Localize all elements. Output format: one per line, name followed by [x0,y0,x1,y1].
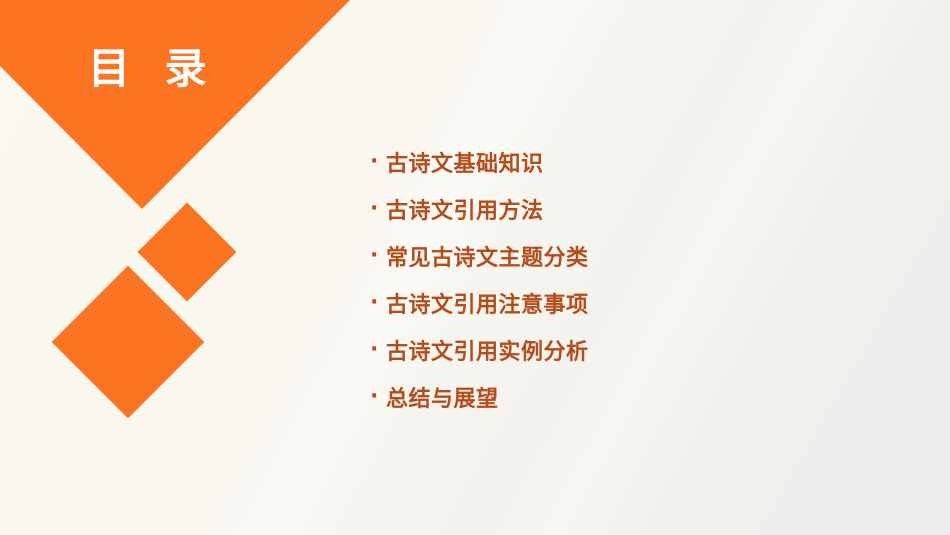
toc-item-2[interactable]: · 古诗文引用方法 [370,185,890,232]
bullet-icon: · [370,198,386,220]
bullet-icon: · [370,292,386,314]
bullet-icon: · [370,386,386,408]
bullet-icon: · [370,151,386,173]
toc-item-label: 古诗文基础知识 [386,146,544,178]
toc-item-label: 常见古诗文主题分类 [386,240,589,272]
slide-canvas: 目 录 · 古诗文基础知识 · 古诗文引用方法 · 常见古诗文主题分类 · 古诗… [0,0,950,535]
toc-item-label: 古诗文引用方法 [386,193,544,225]
toc-item-3[interactable]: · 常见古诗文主题分类 [370,232,890,279]
decor-diamond-medium [138,203,237,302]
toc-item-6[interactable]: · 总结与展望 [370,373,890,420]
toc-item-label: 古诗文引用注意事项 [386,287,589,319]
toc-item-label: 总结与展望 [386,381,499,413]
toc-item-5[interactable]: · 古诗文引用实例分析 [370,326,890,373]
bullet-icon: · [370,245,386,267]
toc-item-1[interactable]: · 古诗文基础知识 [370,138,890,185]
bullet-icon: · [370,339,386,361]
page-title: 目 录 [88,48,217,90]
decor-diamond-main [0,0,350,209]
toc-item-label: 古诗文引用实例分析 [386,334,589,366]
table-of-contents: · 古诗文基础知识 · 古诗文引用方法 · 常见古诗文主题分类 · 古诗文引用注… [370,138,890,420]
toc-item-4[interactable]: · 古诗文引用注意事项 [370,279,890,326]
